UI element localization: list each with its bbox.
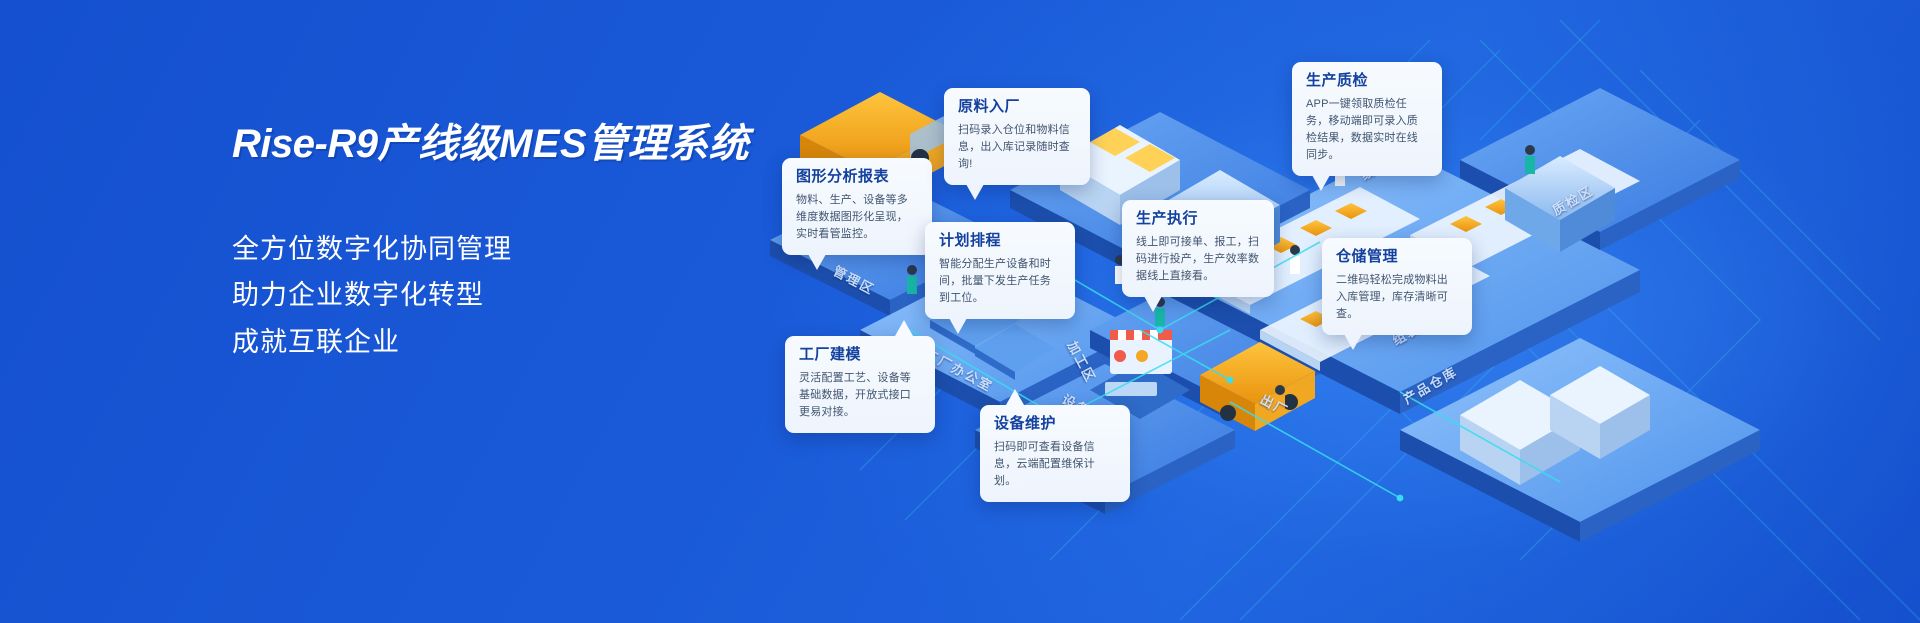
callout-tail — [949, 318, 967, 334]
callout-title-factory-modeling: 工厂建模 — [799, 347, 921, 364]
callout-title-production-qc: 生产质检 — [1306, 73, 1428, 90]
callout-card-production-execution[interactable]: 生产执行 线上即可接单、报工，扫码进行投产，生产效率数据线上直接看。 — [1122, 200, 1274, 297]
hero-copy: Rise-R9产线级MES管理系统 全方位数字化协同管理 助力企业数字化转型 成… — [232, 124, 792, 365]
callout-card-graph-report[interactable]: 图形分析报表 物料、生产、设备等多维度数据图形化呈现，实时看管监控。 — [782, 158, 932, 255]
callout-body-production-execution: 线上即可接单、报工，扫码进行投产，生产效率数据线上直接看。 — [1136, 234, 1260, 285]
callout-tail — [1006, 389, 1024, 405]
callout-body-plan-scheduling: 智能分配生产设备和时间，批量下发生产任务到工位。 — [939, 256, 1061, 307]
callout-card-warehouse-management[interactable]: 仓储管理 二维码轻松完成物料出入库管理，库存清晰可查。 — [1322, 238, 1472, 335]
callout-body-graph-report: 物料、生产、设备等多维度数据图形化呈现，实时看管监控。 — [796, 192, 918, 243]
callout-body-material-inbound: 扫码录入仓位和物料信息，出入库记录随时查询! — [958, 122, 1076, 173]
callout-card-equipment-maintenance[interactable]: 设备维护 扫码即可查看设备信息，云端配置维保计划。 — [980, 405, 1130, 502]
hero-subline-3: 成就互联企业 — [232, 319, 792, 365]
callout-card-plan-scheduling[interactable]: 计划排程 智能分配生产设备和时间，批量下发生产任务到工位。 — [925, 222, 1075, 319]
headline-latin: Rise-R9 — [232, 122, 377, 166]
callout-title-equipment-maintenance: 设备维护 — [994, 416, 1116, 433]
callout-tail — [808, 254, 826, 270]
callout-title-production-execution: 生产执行 — [1136, 211, 1260, 228]
callout-title-plan-scheduling: 计划排程 — [939, 233, 1061, 250]
callout-tail — [966, 184, 984, 200]
callout-card-production-qc[interactable]: 生产质检 APP一键领取质检任务，移动端即可录入质检结果，数据实时在线同步。 — [1292, 62, 1442, 176]
callout-tail — [1144, 296, 1162, 312]
callout-tail — [1344, 334, 1362, 350]
callout-body-warehouse-management: 二维码轻松完成物料出入库管理，库存清晰可查。 — [1336, 272, 1458, 323]
callout-card-factory-modeling[interactable]: 工厂建模 灵活配置工艺、设备等基础数据，开放式接口更易对接。 — [785, 336, 935, 433]
hero-subline-1: 全方位数字化协同管理 — [232, 226, 792, 272]
callout-title-graph-report: 图形分析报表 — [796, 169, 918, 186]
callout-title-material-inbound: 原料入厂 — [958, 99, 1076, 116]
mes-hero-banner: Rise-R9产线级MES管理系统 全方位数字化协同管理 助力企业数字化转型 成… — [0, 0, 1920, 623]
callout-body-equipment-maintenance: 扫码即可查看设备信息，云端配置维保计划。 — [994, 439, 1116, 490]
callout-title-warehouse-management: 仓储管理 — [1336, 249, 1458, 266]
callout-body-factory-modeling: 灵活配置工艺、设备等基础数据，开放式接口更易对接。 — [799, 370, 921, 421]
hero-sublines: 全方位数字化协同管理 助力企业数字化转型 成就互联企业 — [232, 226, 792, 365]
callout-card-material-inbound[interactable]: 原料入厂 扫码录入仓位和物料信息，出入库记录随时查询! — [944, 88, 1090, 185]
callout-tail — [895, 320, 913, 336]
callout-tail — [1312, 175, 1330, 191]
callout-body-production-qc: APP一键领取质检任务，移动端即可录入质检结果，数据实时在线同步。 — [1306, 96, 1428, 164]
page-title: Rise-R9产线级MES管理系统 — [232, 124, 792, 164]
headline-cn: 产线级MES管理系统 — [377, 122, 749, 166]
hero-subline-2: 助力企业数字化转型 — [232, 272, 792, 318]
